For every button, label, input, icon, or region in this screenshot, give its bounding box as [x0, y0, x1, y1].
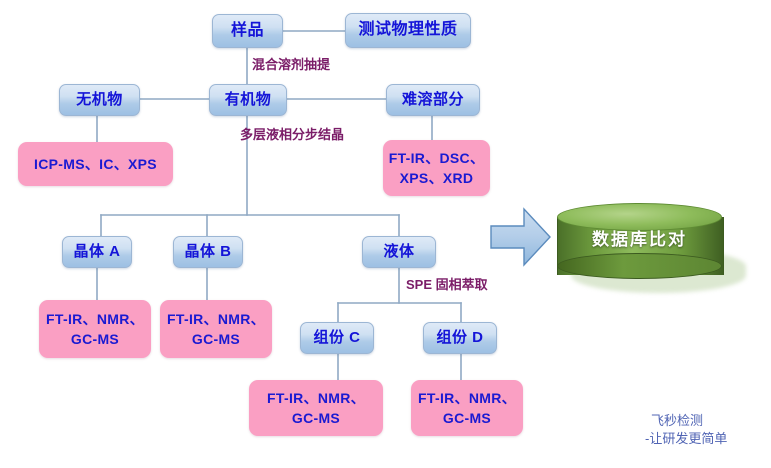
method-box-component-c[interactable]: FT-IR、NMR、 GC-MS	[249, 380, 383, 436]
node-liquid-label: 液体	[383, 243, 414, 260]
node-sample[interactable]: 样品	[212, 14, 283, 48]
method-box-component-c-line2: GC-MS	[292, 408, 340, 428]
method-box-insoluble-line1: FT-IR、DSC、	[389, 148, 485, 168]
method-box-crystal-a-line2: GC-MS	[71, 329, 119, 349]
method-box-crystal-b-line1: FT-IR、NMR、	[167, 309, 265, 329]
footer-brand-line1: 飞秒检测	[651, 412, 703, 430]
method-box-component-c-line1: FT-IR、NMR、	[267, 388, 365, 408]
node-component-d[interactable]: 组份 D	[423, 322, 497, 354]
node-insoluble[interactable]: 难溶部分	[386, 84, 480, 116]
method-box-crystal-a[interactable]: FT-IR、NMR、 GC-MS	[39, 300, 151, 358]
method-box-component-d-line2: GC-MS	[443, 408, 491, 428]
node-component-c[interactable]: 组份 C	[300, 322, 374, 354]
database-label: 数据库比对	[557, 225, 722, 250]
footer-brand-line2: -让研发更简单	[645, 430, 727, 448]
node-component-c-label: 组份 C	[313, 329, 360, 346]
node-organic[interactable]: 有机物	[209, 84, 287, 116]
node-crystal-b[interactable]: 晶体 B	[173, 236, 243, 268]
flowchart-canvas: 样品 测试物理性质 混合溶剂抽提 无机物 有机物 难溶部分 多层液相分步结晶 I…	[0, 0, 771, 468]
node-sample-label: 样品	[231, 22, 264, 40]
database-bottom-ellipse	[557, 253, 722, 279]
node-physical-test-label: 测试物理性质	[358, 21, 457, 39]
node-crystal-b-label: 晶体 B	[184, 243, 231, 260]
edge-label-fractional-crystallization: 多层液相分步结晶	[240, 128, 344, 141]
method-box-crystal-a-line1: FT-IR、NMR、	[46, 309, 144, 329]
method-box-crystal-b-line2: GC-MS	[192, 329, 240, 349]
node-inorganic[interactable]: 无机物	[59, 84, 140, 116]
method-box-crystal-b[interactable]: FT-IR、NMR、 GC-MS	[160, 300, 272, 358]
node-crystal-a-label: 晶体 A	[73, 243, 120, 260]
node-crystal-a[interactable]: 晶体 A	[62, 236, 132, 268]
method-box-inorganic-label: ICP-MS、IC、XPS	[34, 154, 157, 174]
method-box-component-d[interactable]: FT-IR、NMR、 GC-MS	[411, 380, 523, 436]
node-insoluble-label: 难溶部分	[402, 91, 464, 108]
node-component-d-label: 组份 D	[436, 329, 483, 346]
method-box-inorganic[interactable]: ICP-MS、IC、XPS	[18, 142, 173, 186]
method-box-insoluble-line2: XPS、XRD	[400, 168, 474, 188]
method-box-insoluble[interactable]: FT-IR、DSC、 XPS、XRD	[383, 140, 490, 196]
database-cylinder[interactable]: 数据库比对	[557, 203, 752, 303]
node-physical-test[interactable]: 测试物理性质	[345, 13, 471, 48]
edge-label-solvent-extraction: 混合溶剂抽提	[252, 58, 330, 71]
method-box-component-d-line1: FT-IR、NMR、	[418, 388, 516, 408]
node-inorganic-label: 无机物	[76, 91, 123, 108]
edge-label-spe-extraction: SPE 固相萃取	[406, 278, 488, 291]
node-organic-label: 有机物	[225, 91, 272, 108]
node-liquid[interactable]: 液体	[362, 236, 436, 268]
flow-arrow-icon	[490, 206, 552, 268]
